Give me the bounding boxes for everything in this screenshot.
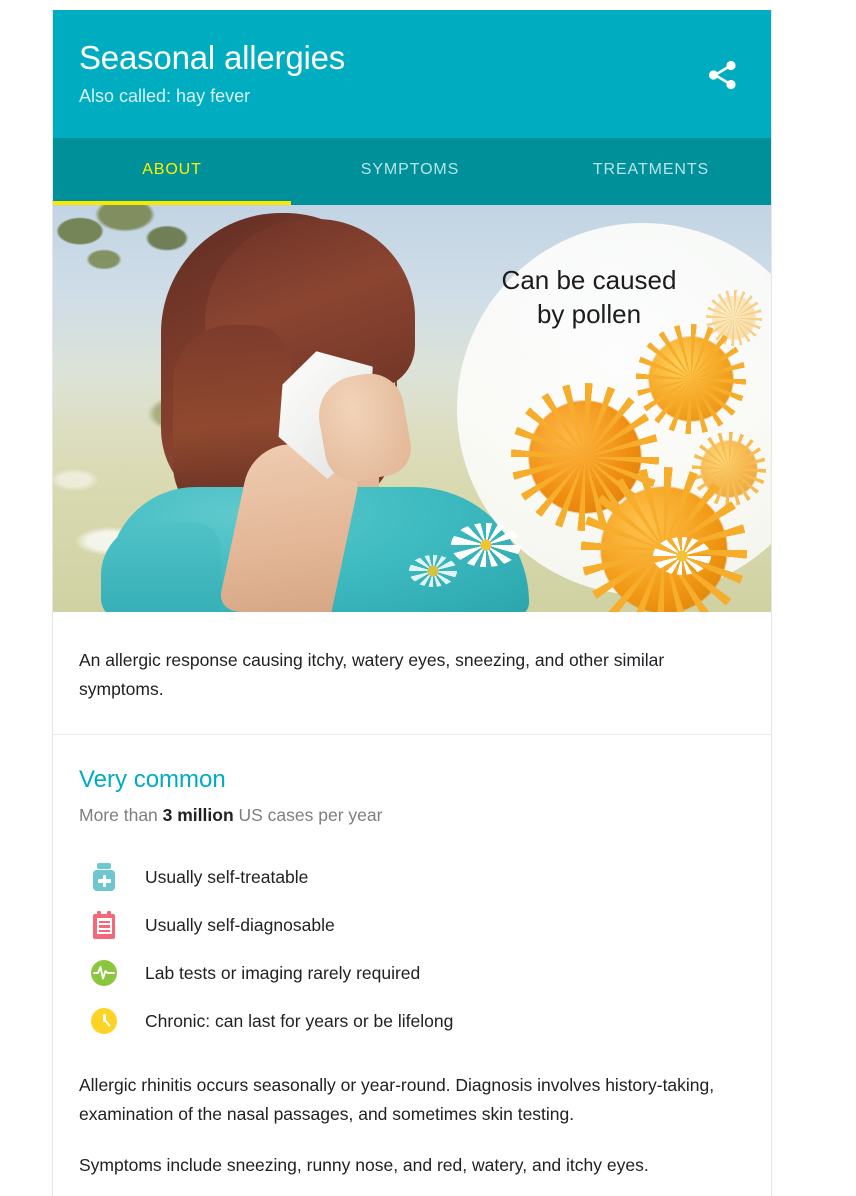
woman-sleeve	[101, 523, 221, 612]
list-item: Usually self-diagnosable	[79, 901, 745, 949]
hero-image[interactable]: Can be caused by pollen	[53, 205, 771, 612]
list-item: Chronic: can last for years or be lifelo…	[79, 997, 745, 1045]
clock-icon	[87, 1006, 123, 1036]
pollen-grain	[649, 337, 733, 421]
also-called-subtitle: Also called: hay fever	[79, 85, 745, 107]
prevalence-prefix: More than	[79, 805, 163, 825]
daisy-flower	[451, 523, 521, 567]
fact-label: Usually self-treatable	[145, 865, 308, 889]
share-button[interactable]	[703, 58, 741, 92]
prevalence-subtitle: More than 3 million US cases per year	[79, 803, 745, 827]
prevalence-count: 3 million	[163, 805, 234, 825]
fact-label: Lab tests or imaging rarely required	[145, 961, 420, 985]
body-paragraph: Allergic rhinitis occurs seasonally or y…	[79, 1071, 745, 1129]
body-paragraph: Symptoms include sneezing, runny nose, a…	[79, 1151, 745, 1180]
fact-label: Usually self-diagnosable	[145, 913, 335, 937]
tab-symptoms[interactable]: SYMPTOMS	[291, 138, 529, 201]
panel-header: Seasonal allergies Also called: hay feve…	[53, 10, 771, 138]
fact-label: Chronic: can last for years or be lifelo…	[145, 1009, 453, 1033]
page-title: Seasonal allergies	[79, 38, 745, 78]
prevalence-section: Very common More than 3 million US cases…	[53, 735, 771, 1045]
daisy-flower	[409, 555, 457, 587]
list-item: Lab tests or imaging rarely required	[79, 949, 745, 997]
prevalence-title: Very common	[79, 765, 745, 795]
tab-about[interactable]: ABOUT	[53, 138, 291, 201]
description-section: An allergic response causing itchy, wate…	[53, 612, 771, 735]
clipboard-icon	[87, 910, 123, 940]
page-root: Seasonal allergies Also called: hay feve…	[0, 0, 856, 1196]
fact-list: Usually self-treatable Usually self-diag…	[79, 853, 745, 1045]
body-text-section: Allergic rhinitis occurs seasonally or y…	[53, 1045, 771, 1180]
pollen-callout-text: Can be caused by pollen	[469, 263, 709, 331]
list-item: Usually self-treatable	[79, 853, 745, 901]
pulse-icon	[87, 958, 123, 988]
prevalence-suffix: US cases per year	[234, 805, 383, 825]
knowledge-panel-card: Seasonal allergies Also called: hay feve…	[52, 10, 772, 1196]
share-icon	[703, 58, 741, 92]
daisy-flower	[653, 537, 711, 575]
description-text: An allergic response causing itchy, wate…	[79, 646, 745, 704]
pill-bottle-icon	[87, 862, 123, 892]
tab-bar: ABOUT SYMPTOMS TREATMENTS	[53, 138, 771, 205]
pollen-callout-line-1: Can be caused	[469, 263, 709, 297]
tab-treatments[interactable]: TREATMENTS	[529, 138, 772, 201]
